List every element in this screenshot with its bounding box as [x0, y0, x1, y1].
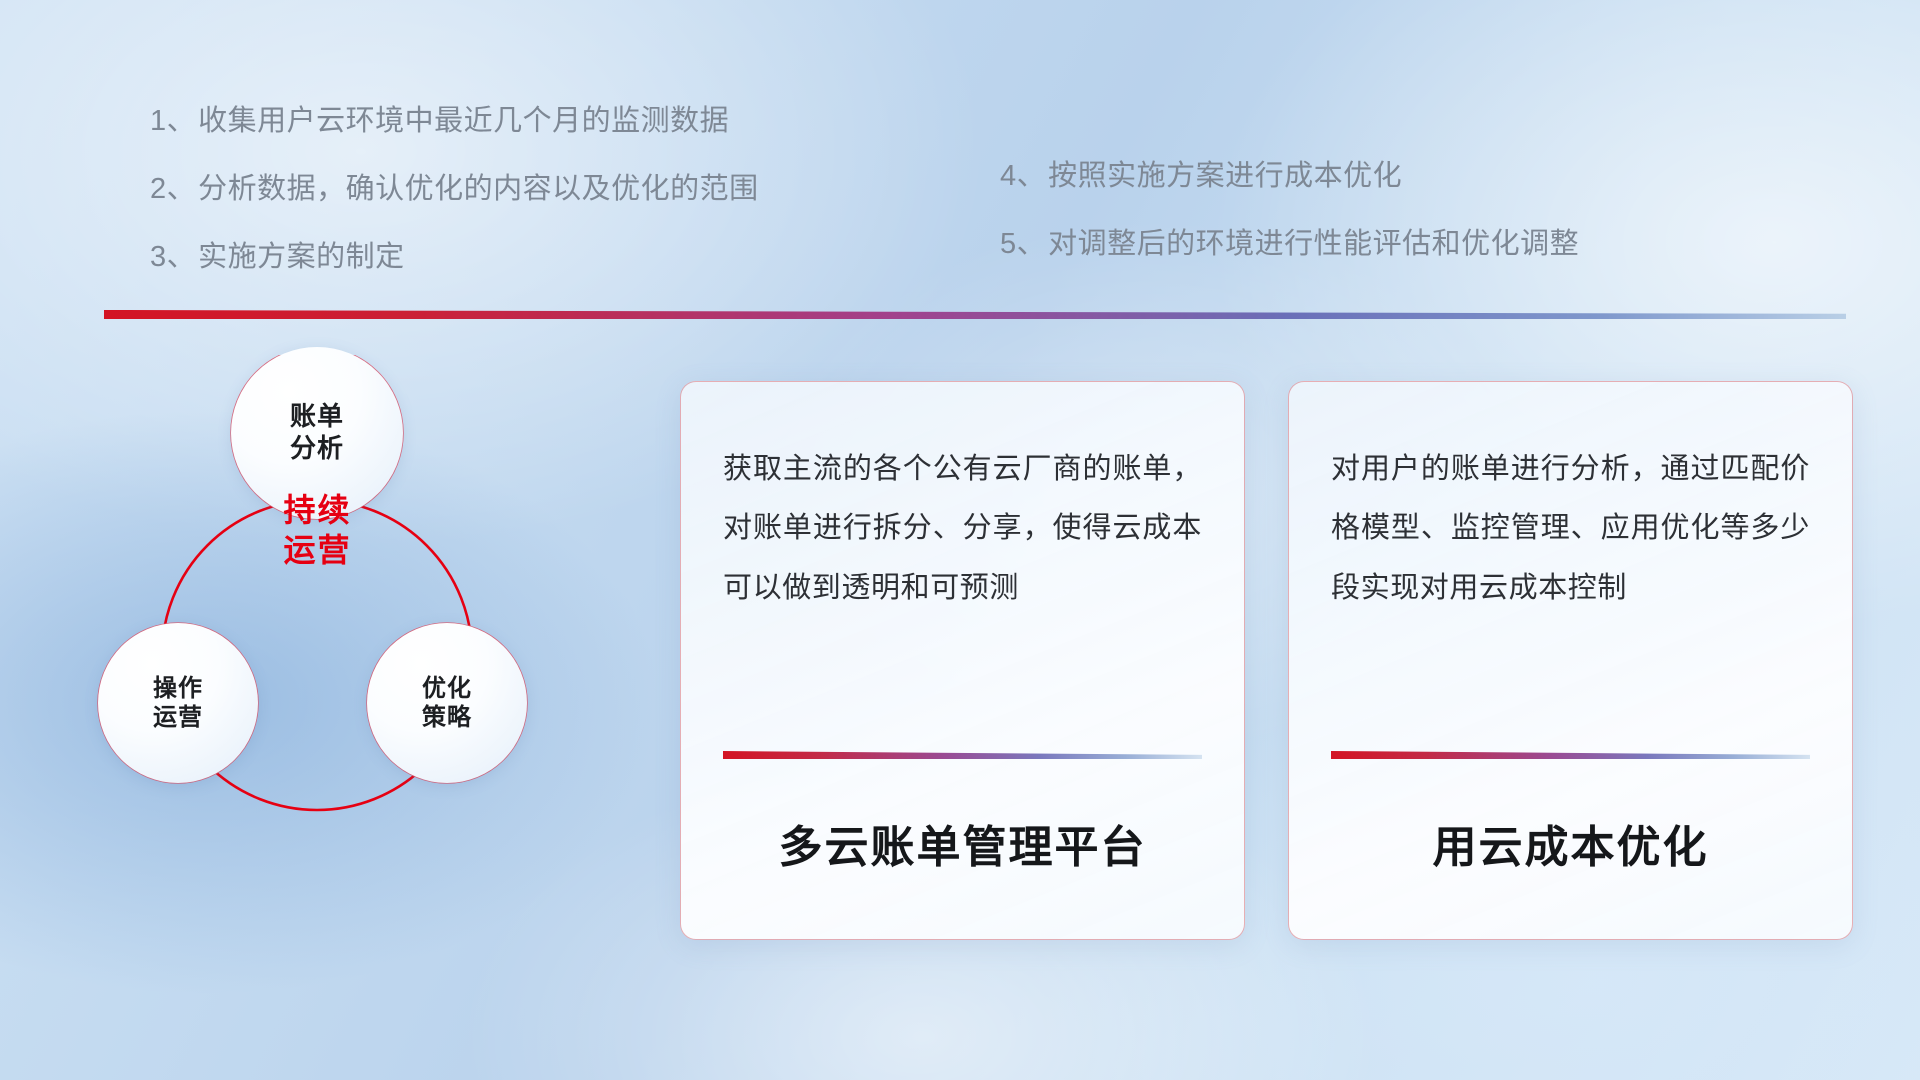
list-item-number: 5、 — [1000, 220, 1046, 262]
feature-card-divider — [1331, 751, 1810, 759]
venn-node-optimization-strategy[interactable]: 优化 策略 — [367, 623, 527, 783]
list-item-number: 1、 — [150, 97, 196, 139]
list-item-number: 4、 — [1000, 152, 1046, 194]
list-item-label: 按照实施方案进行成本优化 — [1048, 152, 1402, 194]
process-step-column-left: 1、 收集用户云环境中最近几个月的监测数据 2、 分析数据，确认优化的内容以及优… — [150, 97, 759, 301]
venn-node-operations[interactable]: 操作 运营 — [98, 623, 258, 783]
list-item: 5、 对调整后的环境进行性能评估和优化调整 — [1000, 220, 1579, 262]
venn-node-label-line1: 优化 — [422, 674, 472, 703]
feature-card-body: 对用户的账单进行分析，通过匹配价格模型、监控管理、应用优化等多少段实现对用云成本… — [1331, 440, 1810, 618]
venn-node-label: 账单 分析 — [290, 401, 344, 464]
list-item: 2、 分析数据，确认优化的内容以及优化的范围 — [150, 165, 759, 207]
venn-node-label-line2: 分析 — [290, 433, 344, 465]
feature-card-multicloud-billing[interactable]: 获取主流的各个公有云厂商的账单，对账单进行拆分、分享，使得云成本可以做到透明和可… — [680, 381, 1245, 940]
process-step-column-right: 4、 按照实施方案进行成本优化 5、 对调整后的环境进行性能评估和优化调整 — [1000, 152, 1579, 288]
list-item-number: 3、 — [150, 233, 196, 275]
feature-card-divider — [723, 751, 1202, 759]
venn-center-label-line2: 运营 — [245, 530, 390, 570]
venn-node-label: 操作 运营 — [153, 674, 203, 733]
section-divider — [104, 310, 1846, 319]
feature-card-title: 多云账单管理平台 — [723, 759, 1202, 939]
feature-card-cloud-cost-optimization[interactable]: 对用户的账单进行分析，通过匹配价格模型、监控管理、应用优化等多少段实现对用云成本… — [1288, 381, 1853, 940]
list-item: 1、 收集用户云环境中最近几个月的监测数据 — [150, 97, 759, 139]
venn-node-label-line2: 运营 — [153, 703, 203, 732]
section-divider-bar — [104, 310, 1846, 319]
venn-center-label: 持续 运营 — [245, 490, 390, 570]
list-item-number: 2、 — [150, 165, 196, 207]
list-item-label: 收集用户云环境中最近几个月的监测数据 — [198, 97, 729, 139]
list-item-label: 实施方案的制定 — [198, 233, 405, 275]
venn-node-label: 优化 策略 — [422, 674, 472, 733]
feature-card-title: 用云成本优化 — [1331, 759, 1810, 939]
list-item: 3、 实施方案的制定 — [150, 233, 759, 275]
list-item: 4、 按照实施方案进行成本优化 — [1000, 152, 1579, 194]
list-item-label: 分析数据，确认优化的内容以及优化的范围 — [198, 165, 759, 207]
venn-node-label-line1: 账单 — [290, 401, 344, 433]
feature-card-body: 获取主流的各个公有云厂商的账单，对账单进行拆分、分享，使得云成本可以做到透明和可… — [723, 440, 1202, 618]
venn-node-label-line2: 策略 — [422, 703, 472, 732]
continuous-operation-diagram: 账单 分析 操作 运营 优化 策略 持续 运营 — [95, 355, 615, 915]
venn-center-label-line1: 持续 — [245, 490, 390, 530]
list-item-label: 对调整后的环境进行性能评估和优化调整 — [1048, 220, 1579, 262]
venn-node-label-line1: 操作 — [153, 674, 203, 703]
